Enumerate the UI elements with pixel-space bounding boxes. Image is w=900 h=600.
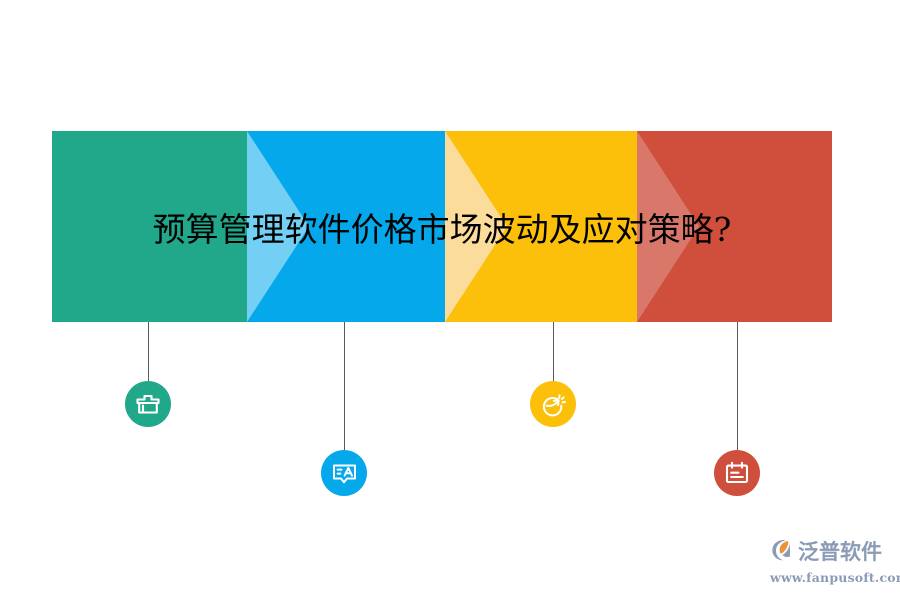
segment-chevron-wedge: [637, 131, 699, 322]
marker-bubble-growth[interactable]: [530, 381, 576, 427]
watermark-logo: 泛普软件 www.fanpusoft.com: [770, 538, 892, 584]
banner-segment-blue[interactable]: [247, 131, 445, 322]
segment-fill: [52, 131, 247, 322]
segment-chevron-wedge: [445, 131, 507, 322]
translate-icon: [331, 460, 358, 487]
connector-line-3: [553, 322, 554, 381]
segment-chevron-wedge: [247, 131, 309, 322]
watermark-brand-text: 泛普软件: [798, 542, 882, 563]
connector-line-4: [737, 322, 738, 450]
banner-arrow-bar: [52, 131, 832, 322]
store-icon: [135, 391, 161, 417]
calendar-note-icon: [724, 460, 750, 486]
connector-line-2: [344, 322, 345, 450]
marker-bubble-store[interactable]: [125, 381, 171, 427]
watermark-url: www.fanpusoft.com: [770, 570, 892, 585]
marker-bubble-translate[interactable]: [321, 450, 367, 496]
growth-arrow-icon: [540, 391, 567, 418]
marker-bubble-calendar[interactable]: [714, 450, 760, 496]
slide-canvas: 预算管理软件价格市场波动及应对策略?: [0, 0, 900, 600]
fanpu-swoosh-logo-icon: [770, 538, 795, 567]
banner-segment-red[interactable]: [637, 131, 832, 322]
connector-line-1: [148, 322, 149, 381]
watermark-brand-row: 泛普软件: [770, 538, 892, 567]
banner-segment-teal[interactable]: [52, 131, 247, 322]
banner-segment-yellow[interactable]: [445, 131, 637, 322]
